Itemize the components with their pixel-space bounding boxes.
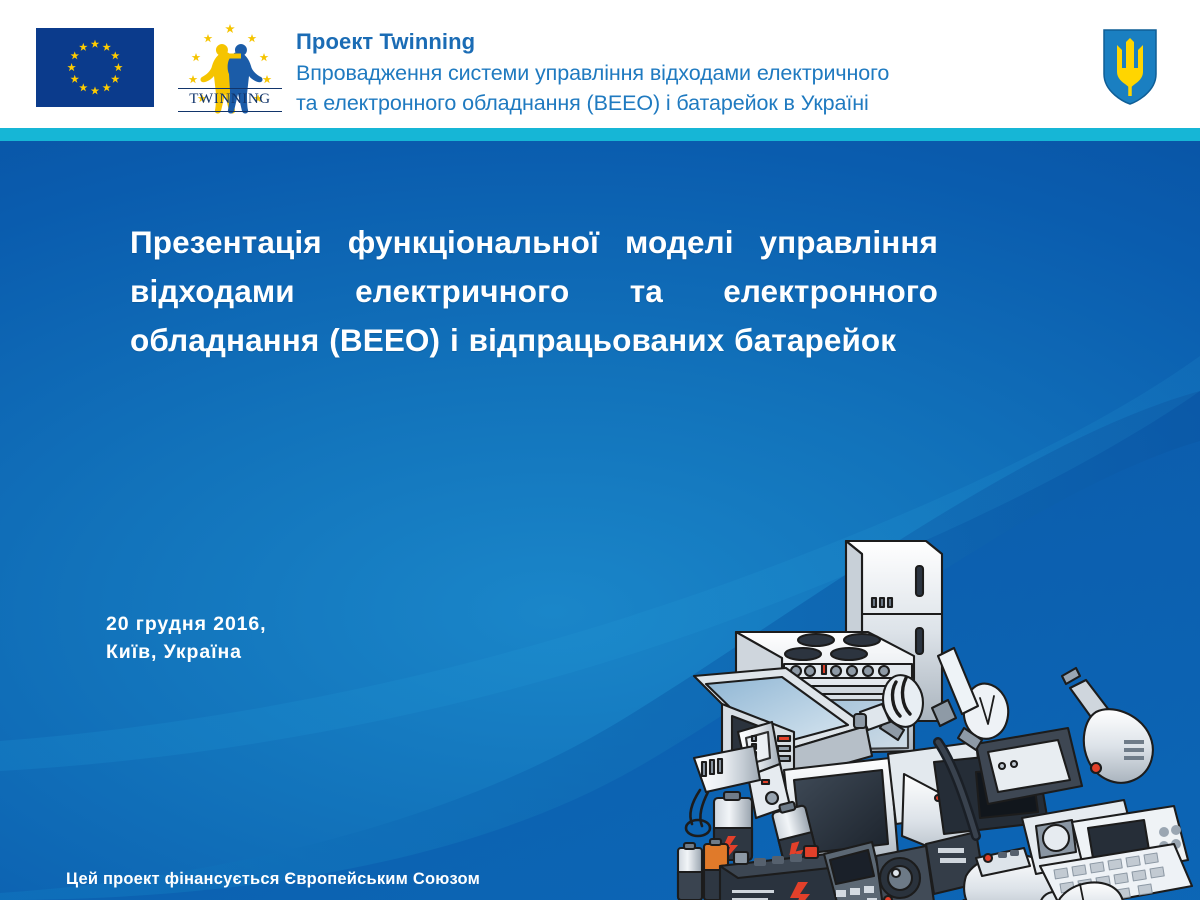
presentation-slide: TWINNING Проект Twinning Впровадження си… — [0, 0, 1200, 900]
slide-header: TWINNING Проект Twinning Впровадження си… — [0, 0, 1200, 128]
e-waste-pile-illustration — [676, 536, 1196, 900]
compact-fluorescent-lamp-item — [880, 675, 923, 740]
project-subtitle: Впровадження системи управління відходам… — [296, 58, 1086, 118]
eu-stars-icon — [37, 29, 153, 106]
camera-item — [876, 846, 934, 900]
slide-title-block: Презентація функціональної моделі управл… — [130, 218, 938, 365]
slide-date-block: 20 грудня 2016, Київ, Україна — [106, 610, 267, 666]
eu-funding-note: Цей проект фінансується Європейським Сою… — [66, 870, 480, 889]
twinning-wordmark: TWINNING — [178, 88, 282, 112]
project-title: Проект Twinning — [296, 28, 1086, 56]
project-subtitle-line-1: Впровадження системи управління відходам… — [296, 58, 1086, 88]
accent-cyan-bar — [0, 128, 1200, 141]
slide-main-title: Презентація функціональної моделі управл… — [130, 218, 938, 365]
event-place: Київ, Україна — [106, 638, 267, 666]
ukraine-coat-of-arms-icon — [1102, 28, 1158, 106]
eu-flag — [36, 28, 154, 107]
event-date: 20 грудня 2016, — [106, 610, 267, 638]
project-subtitle-line-2: та електронного обладнання (ВЕЕО) і бата… — [296, 88, 1086, 118]
header-text-block: Проект Twinning Впровадження системи упр… — [296, 28, 1086, 118]
